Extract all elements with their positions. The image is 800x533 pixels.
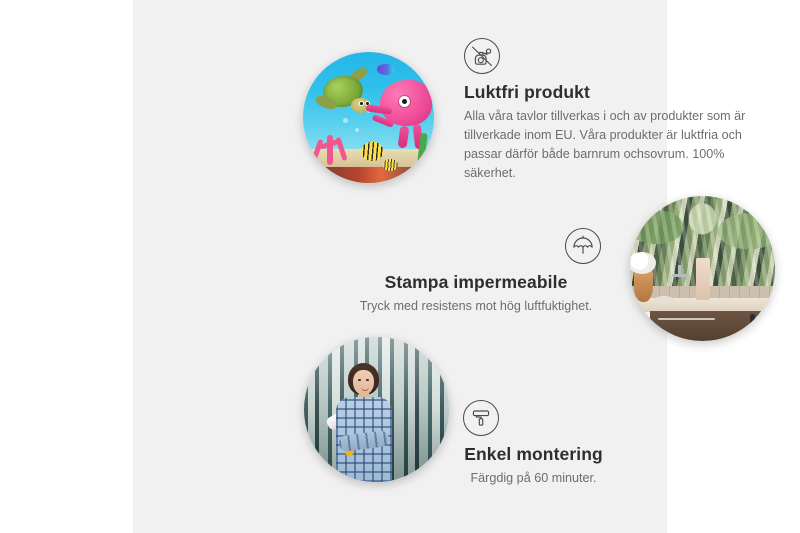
faucet [672,274,688,277]
feature-title: Enkel montering [451,444,616,465]
wood-vanity-cabinet [650,311,775,341]
woman-face [353,370,374,395]
soap-dispenser [696,258,710,300]
bubble-icon [343,118,348,123]
feature-mounting: Enkel montering Färgdig på 60 minuter. [451,400,616,488]
small-striped-fish [383,159,398,171]
feature-body: Alla våra tavlor tillverkas i och av pro… [464,107,754,184]
bathroom-botanical-wallpaper-photo [630,196,775,341]
striped-yellow-fish [361,142,383,161]
bubble-icon [355,128,359,132]
octopus-eye [399,96,410,107]
feature-title: Stampa impermeabile [351,272,601,293]
feature-title: Luktfri produkt [464,82,754,103]
umbrella-icon [565,228,601,264]
infographic-panel: Luktfri produkt Alla våra tavlor tillver… [133,0,667,533]
no-fragrance-icon [464,38,500,74]
soap-dish [654,296,674,304]
purple-fish [377,64,394,75]
woman-eye [366,379,369,381]
infographic-canvas: Luktfri produkt Alla våra tavlor tillver… [0,0,800,533]
feature-odourless: Luktfri produkt Alla våra tavlor tillver… [464,38,754,184]
feature-body: Färgdig på 60 minuter. [451,469,616,488]
feature-waterproof: Stampa impermeabile Tryck med resistens … [351,228,601,316]
sea-bottom-strip [303,167,434,183]
underwater-kids-mural-photo [303,52,434,183]
feature-body: Tryck med resistens mot hög luftfuktighe… [351,297,601,316]
woman-paint-roller-forest-photo [304,337,449,482]
paint-roller-icon [463,400,499,436]
turtle-eye [359,101,364,106]
pink-coral [311,129,353,165]
woman-eye [358,379,361,381]
